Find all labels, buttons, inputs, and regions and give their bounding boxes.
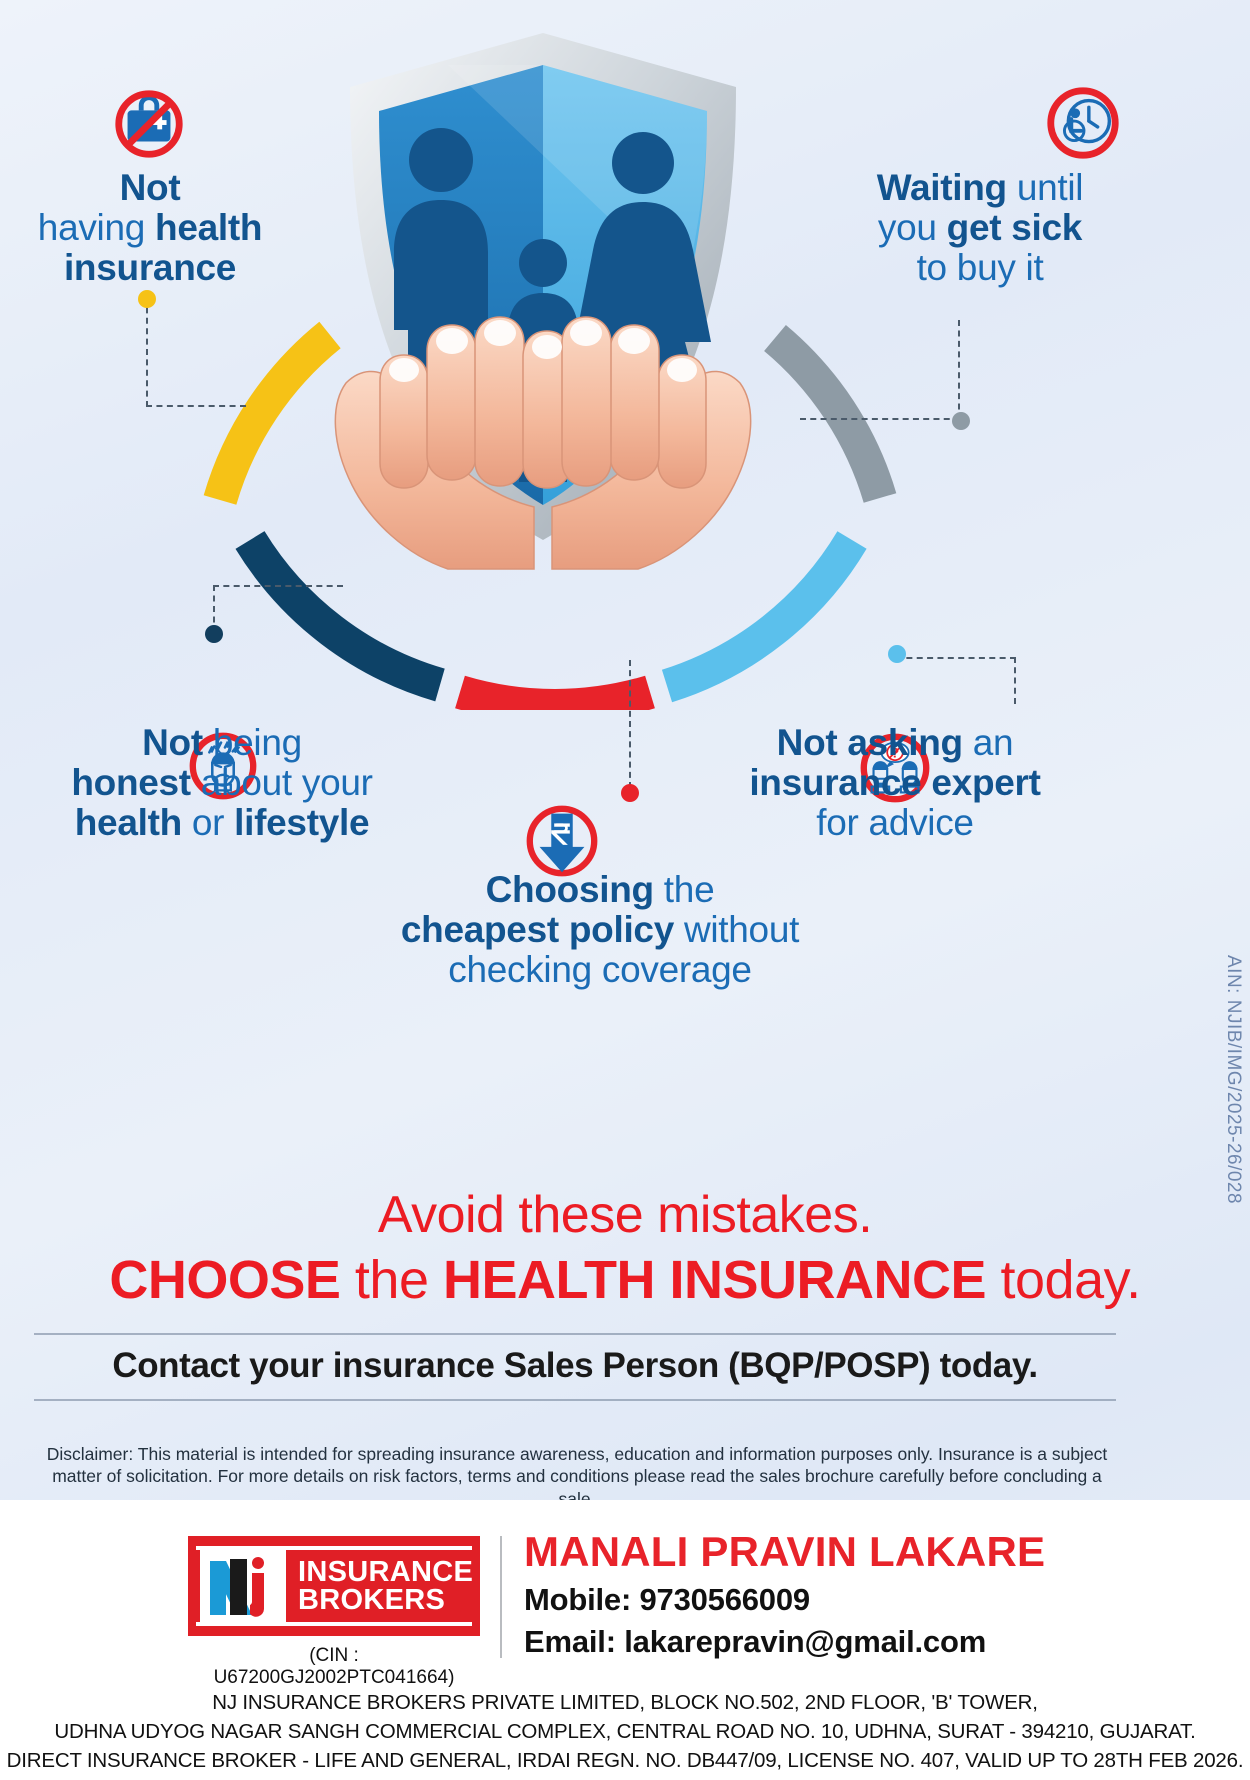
connector-dot-top-right [952,412,970,430]
cin-number: (CIN : U67200GJ2002PTC041664) [188,1645,480,1689]
connector-bottom-right [896,657,1016,704]
address-line-2: UDHNA UDYOG NAGAR SANGH COMMERCIAL COMPL… [0,1717,1250,1746]
headline-the: the [340,1250,443,1310]
agent-mobile[interactable]: Mobile: 9730566009 [524,1582,1045,1618]
connector-dot-bottom-right [888,645,906,663]
no-medical-kit-icon [110,85,188,163]
headline-line-1: Avoid these mistakes. [0,1185,1250,1245]
callout-not-having-health-insurance: Nothaving healthinsurance [0,168,300,288]
callout-not-being-honest: Not beinghonest about yourhealth or life… [22,723,422,843]
clock-wheelchair-icon [1042,82,1124,164]
poster-root: ? Nothaving healthinsurance Waiting unti… [0,0,1250,1780]
connector-dot-top-left [138,290,156,308]
headline-choose: CHOOSE [109,1250,340,1310]
logo-block: INSURANCE BROKERS (CIN : U67200GJ2002PTC… [188,1536,480,1689]
callout-choosing-cheapest-policy: Choosing thecheapest policy withoutcheck… [300,870,900,990]
contact-cta-text: Contact your insurance Sales Person (BQP… [34,1335,1116,1399]
headline-line-2: CHOOSE the HEALTH INSURANCE today. [0,1249,1250,1311]
headline-today: today. [986,1250,1141,1310]
illustration-stage: ? Nothaving healthinsurance Waiting unti… [0,0,1250,1195]
ain-code: AIN: NJIB/IMG/2025-26/028 [1222,955,1244,1204]
footer-divider [500,1536,502,1658]
agent-name: MANALI PRAVIN LAKARE [524,1528,1045,1576]
contact-band: Contact your insurance Sales Person (BQP… [34,1333,1116,1401]
logo-wordmark: INSURANCE BROKERS [298,1558,473,1615]
callout-waiting-until-you-get-sick: Waiting untilyou get sickto buy it [830,168,1130,288]
company-address: NJ INSURANCE BROKERS PRIVATE LIMITED, BL… [0,1688,1250,1775]
address-line-1: NJ INSURANCE BROKERS PRIVATE LIMITED, BL… [0,1688,1250,1717]
logo-word-brokers: BROKERS [298,1586,473,1614]
footer: INSURANCE BROKERS (CIN : U67200GJ2002PTC… [0,1500,1250,1780]
connector-bottom-left [213,585,343,633]
nj-logo-mark [200,1549,286,1623]
shield-with-family-and-hands [318,25,768,675]
agent-email[interactable]: Email: lakarepravin@gmail.com [524,1624,1045,1660]
headline-health-insurance: HEALTH INSURANCE [443,1250,986,1310]
callout-not-asking-expert: Not asking aninsurance expertfor advice [720,723,1070,843]
headline: Avoid these mistakes. CHOOSE the HEALTH … [0,1185,1250,1311]
band-rule-top [34,1333,1116,1335]
connector-top-right [800,320,960,420]
nj-insurance-brokers-logo: INSURANCE BROKERS [188,1536,480,1636]
connector-center-bottom [629,660,631,788]
band-rule-bottom [34,1399,1116,1401]
connector-dot-bottom-left [205,625,223,643]
connector-dot-center-bottom [621,784,639,802]
address-line-3: DIRECT INSURANCE BROKER - LIFE AND GENER… [0,1746,1250,1775]
agent-contact-block: MANALI PRAVIN LAKARE Mobile: 9730566009 … [524,1528,1045,1660]
connector-top-left [146,297,246,407]
logo-word-insurance: INSURANCE [298,1558,473,1586]
